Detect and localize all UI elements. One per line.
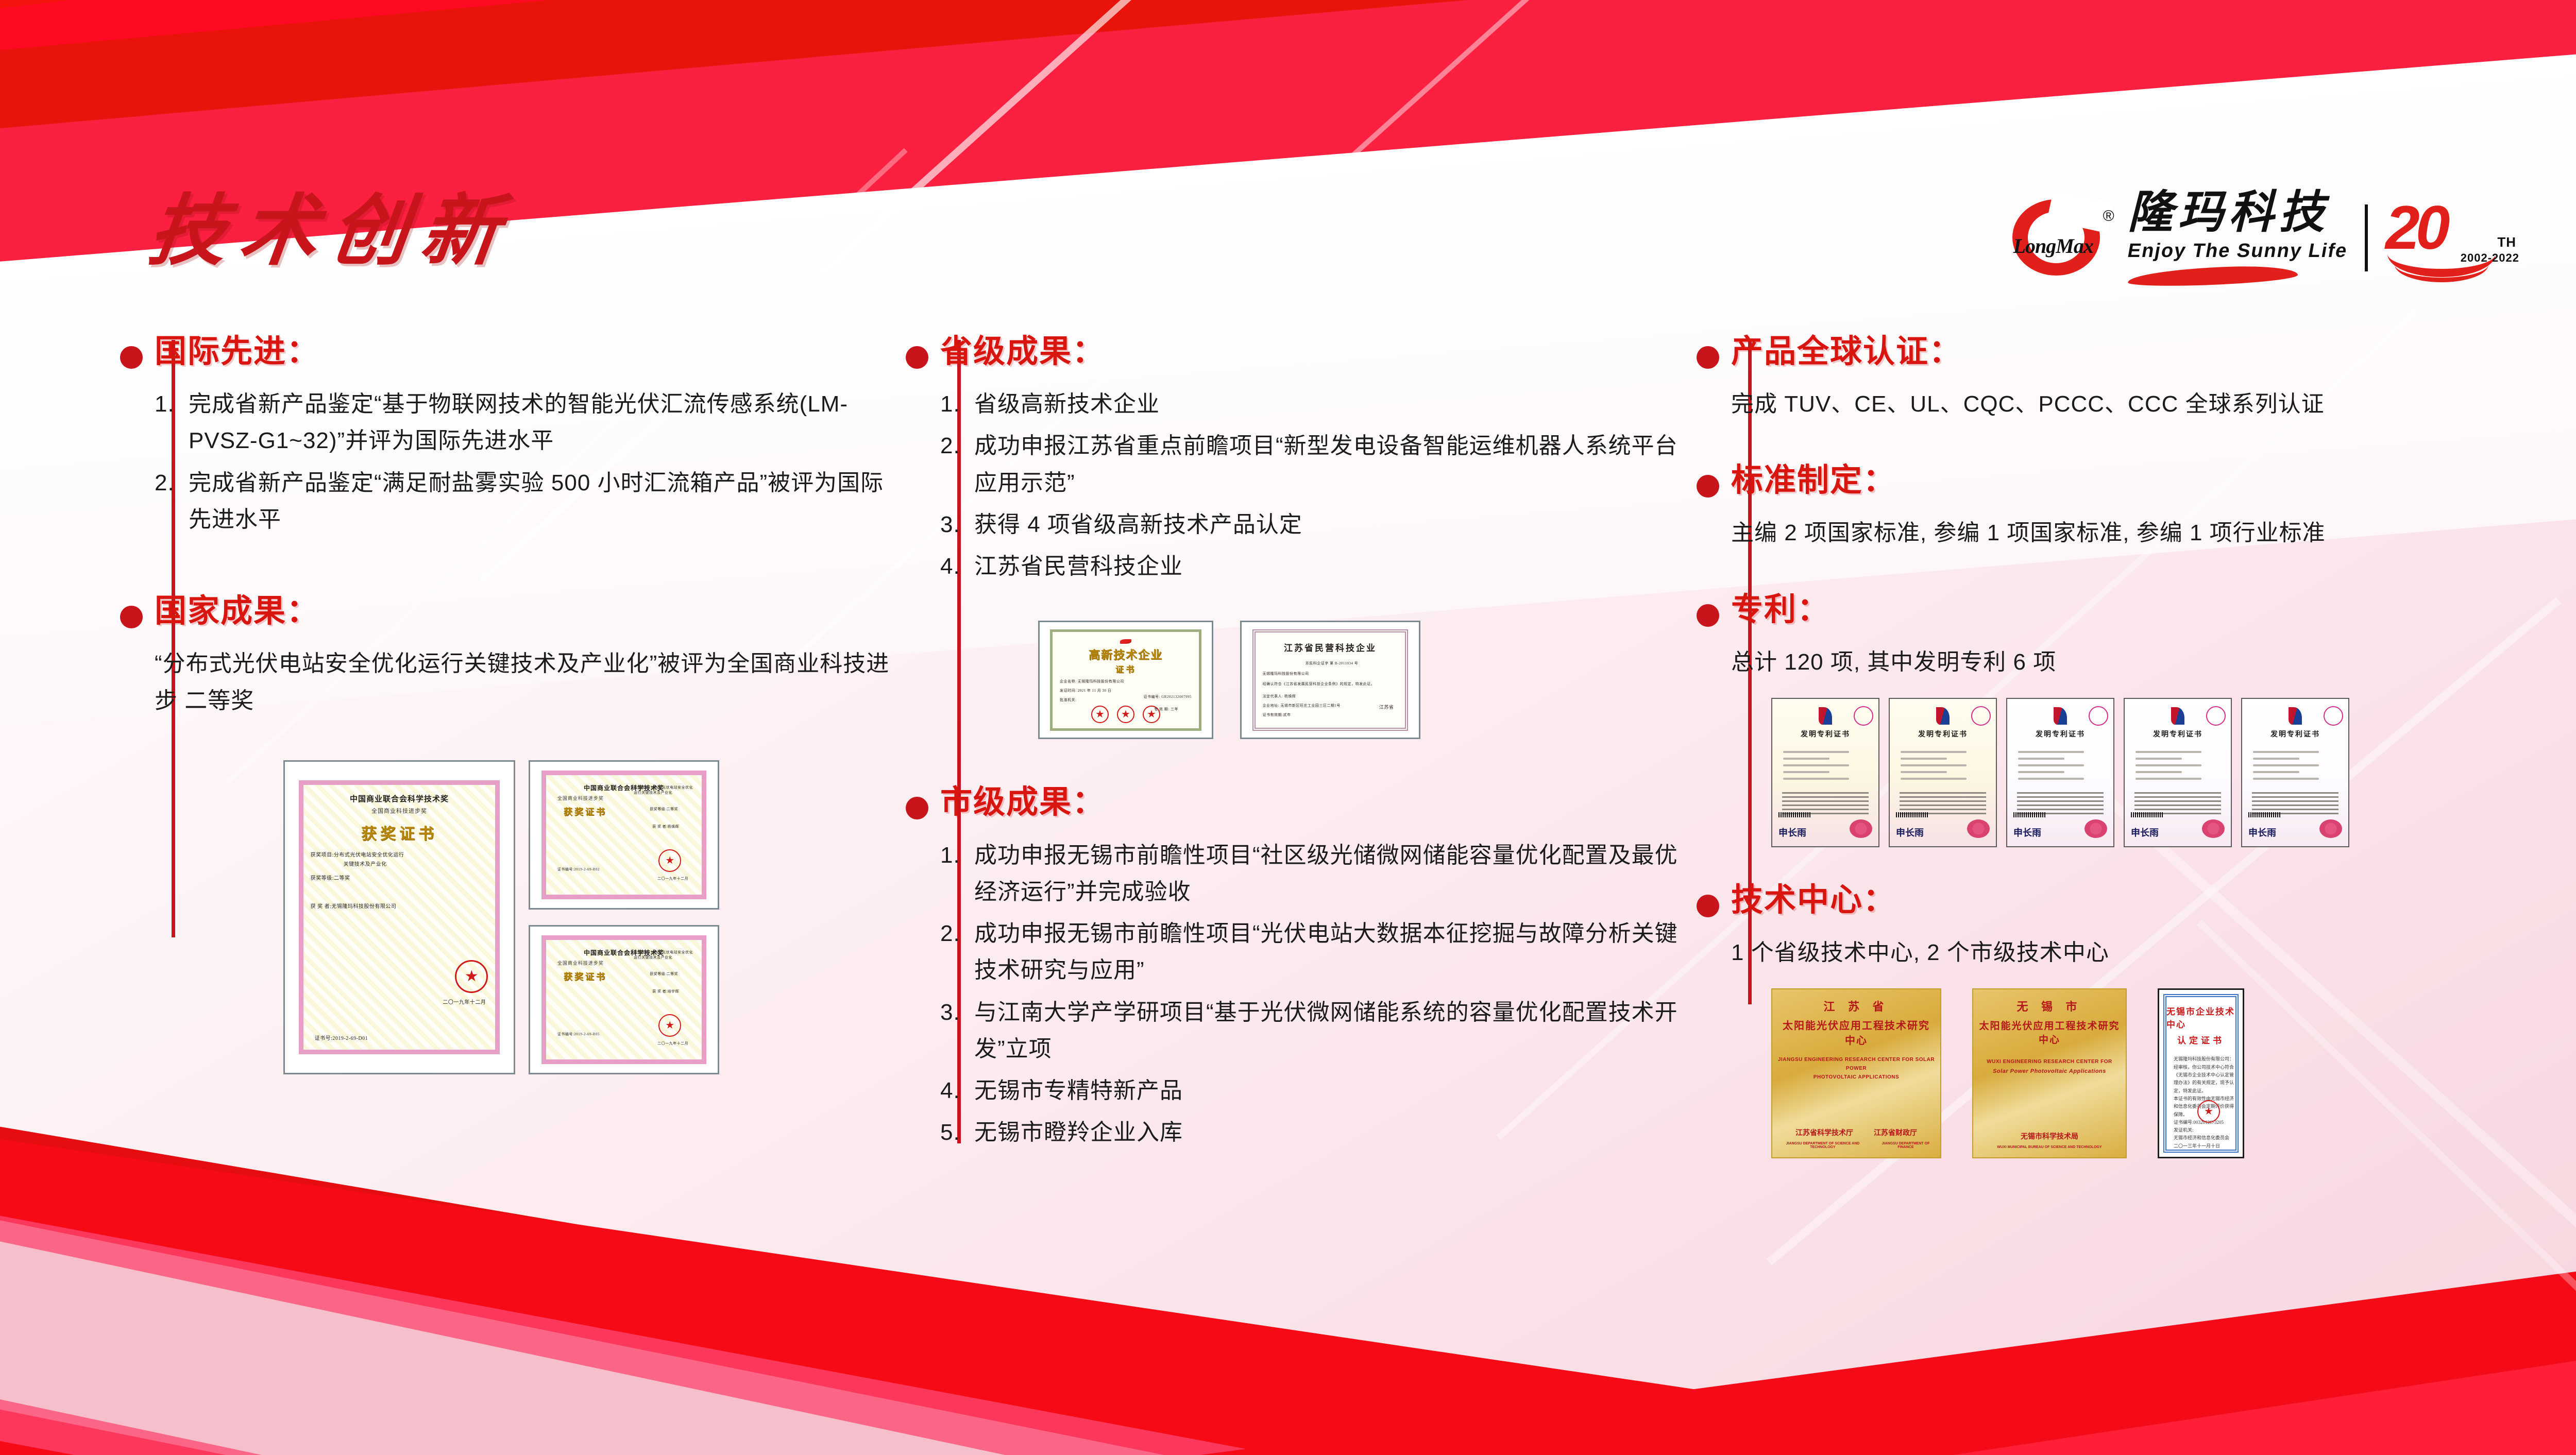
patent-seal-icon: [1854, 706, 1873, 726]
bullet-dot-icon: [120, 606, 143, 628]
patent-title: 发明专利证书: [1918, 729, 1968, 739]
certificate-subheading: 全国商业科技进步奖: [557, 960, 604, 966]
certificate-subheading: 全国商业科技进步奖: [371, 807, 427, 815]
brand-name-cn: 隆玛科技: [2128, 191, 2347, 236]
plaque-line-2: 太阳能光伏应用工程技术研究中心: [1978, 1018, 2121, 1046]
certificate-inner-frame: 无锡市企业技术中心 认定证书 无锡隆玛科技股份有限公司： 经审核，你公司技术中心…: [2163, 994, 2239, 1153]
section-provincial-achievements: 省级成果： 省级高新技术企业 成功申报江苏省重点前瞻项目“新型发电设备智能运维机…: [940, 335, 1687, 585]
patent-seal-icon: [2324, 706, 2343, 726]
patent-title: 发明专利证书: [2036, 729, 2085, 739]
patent-certificate-row: 发明专利证书 申⻓雨 发明专利证书 申⻓雨: [1771, 698, 2504, 847]
patent-signature-icon: 申⻓雨: [1778, 826, 1806, 839]
bullet-dot-icon: [906, 346, 928, 369]
list-item: 成功申报无锡市前瞻性项目“光伏电站大数据本征挖掘与故障分析关键技术研究与应用”: [940, 915, 1687, 989]
patent-signature-icon: 申⻓雨: [2248, 826, 2276, 839]
certificate-field: 二〇一九年十二月: [657, 876, 688, 881]
section-global-product-certification: 产品全球认证： 完成 TUV、CE、UL、CQC、PCCC、CCC 全球系列认证: [1731, 335, 2504, 422]
certificate-jiangsu-private-tech: 江苏省民营科技企业 苏民科企证字 第 B-2011034 号 无锡隆玛科技股份有…: [1240, 621, 1420, 739]
patent-seal-icon: [2089, 706, 2108, 726]
certificate-field: 获 奖 者:杨焕辉: [652, 824, 679, 829]
plaque-foot-left-en: JIANGSU DEPARTMENT OF SCIENCE AND TECHNO…: [1777, 1142, 1868, 1149]
certificate-title-1: 无锡市企业技术中心: [2166, 1004, 2235, 1030]
certificate-subheading: 全国商业科技进步奖: [557, 795, 604, 801]
bullet-dot-icon: [1697, 604, 1719, 627]
anniversary-th-label: TH: [2497, 234, 2516, 250]
section-list: 成功申报无锡市前瞻性项目“社区级光储微网储能容量优化配置及最优经济运行”并完成验…: [940, 837, 1687, 1151]
certificate-field: 证书号:2019-2-69-D01: [315, 1034, 368, 1041]
certificate-field: 江苏省: [1379, 704, 1394, 710]
certificate-title-2: 证书: [1115, 662, 1136, 675]
list-item: 成功申报无锡市前瞻性项目“社区级光储微网储能容量优化配置及最优经济运行”并完成验…: [940, 837, 1687, 911]
brand-tagline: Enjoy The Sunny Life: [2126, 240, 2349, 262]
column-left: 国际先进： 完成省新产品鉴定“基于物联网技术的智能光伏汇流传感系统(LM-PVS…: [155, 335, 896, 1074]
certificate-group-provincial: 高新技术企业 证书 企业名称: 无锡隆玛科技股份有限公司 证书编号: GR202…: [1038, 621, 1687, 739]
patent-barcode-icon: [1896, 812, 1929, 817]
list-item: 获得 4 项省级高新技术产品认定: [940, 506, 1687, 543]
list-item: 江苏省民营科技企业: [940, 548, 1687, 585]
plaque-line-1: 江 苏 省: [1823, 998, 1889, 1014]
plaque-foot-left: 无锡市科学技术局: [2021, 1131, 2078, 1141]
certificate-seal-icon: [1091, 706, 1109, 723]
plaque-line-3-en: WUXI ENGINEERING RESEARCH CENTER FOR: [1987, 1057, 2112, 1067]
list-item: 无锡市专精特新产品: [940, 1072, 1687, 1109]
certificate-field: 有 效 期: 三年: [1154, 707, 1178, 712]
section-list: 省级高新技术企业 成功申报江苏省重点前瞻项目“新型发电设备智能运维机器人系统平台…: [940, 386, 1687, 585]
certificate-title: 获奖证书: [564, 804, 607, 817]
patent-bottom-seal-icon: [1850, 819, 1872, 838]
certificate-field: 获奖项目:分布式光伏电站安全优化运行关键技术及产业化: [634, 785, 696, 795]
registered-trademark-icon: ®: [2103, 208, 2114, 225]
patent-field-lines: [1901, 746, 1986, 784]
patent-title: 发明专利证书: [2270, 729, 2320, 739]
certificate-stack-right: 中国商业联合会科学技术奖 全国商业科技进步奖 获奖证书 获奖项目:分布式光伏电站…: [529, 760, 719, 1074]
certificate-field: 获奖项目:分布式光伏电站安全优化运行关键技术及产业化: [634, 950, 696, 960]
certificate-field: 苏民科企证字 第 B-2011034 号: [1306, 661, 1359, 666]
patent-signature-icon: 申⻓雨: [1896, 826, 1924, 839]
list-item: 成功申报江苏省重点前瞻项目“新型发电设备智能运维机器人系统平台应用示范”: [940, 427, 1687, 501]
certificate-inner-frame: 中国商业联合会科学技术奖 全国商业科技进步奖 获奖证书 获奖项目:分布式光伏电站…: [541, 935, 706, 1064]
section-paragraph: 1 个省级技术中心, 2 个市级技术中心: [1731, 934, 2504, 971]
certificate-field: 企业名称: 无锡隆玛科技股份有限公司: [1060, 679, 1124, 684]
patent-emblem-icon: [1936, 707, 1950, 725]
certificate-national-award-main: 中国商业联合会科学技术奖 全国商业科技进步奖 获奖证书 获奖项目:分布式光伏电站…: [283, 760, 515, 1074]
brand-logo-lockup: LongMax ® 隆玛科技 Enjoy The Sunny Life 20 T…: [2012, 191, 2514, 285]
section-paragraph: 总计 120 项, 其中发明专利 6 项: [1731, 644, 2504, 680]
page-title: 技术创新: [145, 193, 517, 270]
plaque-line-4-en: Solar Power Photovoltaic Applications: [1993, 1067, 2106, 1077]
plaque-line-4-en: PHOTOVOLTAIC APPLICATIONS: [1814, 1073, 1899, 1082]
section-international-advanced: 国际先进： 完成省新产品鉴定“基于物联网技术的智能光伏汇流传感系统(LM-PVS…: [155, 335, 896, 538]
certificate-national-award-r02: 中国商业联合会科学技术奖 全国商业科技进步奖 获奖证书 获奖项目:分布式光伏电站…: [529, 760, 719, 910]
certificate-field: 获奖项目:分布式光伏电站安全优化运行: [311, 850, 404, 858]
certificate-title: 获奖证书: [361, 821, 437, 844]
certificate-field: 法定代表人: 杨焕辉: [1263, 694, 1296, 699]
section-standards-formulation: 标准制定： 主编 2 项国家标准, 参编 1 项国家标准, 参编 1 项行业标准: [1731, 464, 2504, 551]
patent-signature-icon: 申⻓雨: [2131, 826, 2159, 839]
patent-emblem-icon: [2171, 707, 2184, 725]
patent-certificate-1: 发明专利证书 申⻓雨: [1771, 698, 1879, 847]
section-paragraph: 主编 2 项国家标准, 参编 1 项国家标准, 参编 1 项行业标准: [1731, 515, 2504, 551]
certificate-field: 证书有效期:贰年: [1263, 712, 1291, 717]
patent-barcode-icon: [2248, 812, 2281, 817]
certificate-field: 批准机关:: [1060, 697, 1076, 703]
patent-bottom-seal-icon: [2084, 819, 2107, 838]
section-list: 完成省新产品鉴定“基于物联网技术的智能光伏汇流传感系统(LM-PVSZ-G1~3…: [155, 386, 896, 538]
patent-bottom-seal-icon: [1967, 819, 1990, 838]
certificate-title-2: 认定证书: [2177, 1033, 2225, 1046]
patent-field-lines: [2018, 746, 2103, 784]
certificate-heading: 江苏省民营科技企业: [1284, 641, 1377, 654]
plaque-line-1: 无 锡 市: [2016, 998, 2082, 1014]
certificate-title: 获奖证书: [564, 969, 607, 982]
section-title: 市级成果：: [940, 785, 1687, 819]
patent-emblem-icon: [1819, 707, 1832, 725]
section-title: 专利：: [1731, 593, 2504, 626]
plaque-foot-left-en: WUXI MUNICIPAL BUREAU OF SCIENCE AND TEC…: [1997, 1145, 2102, 1149]
flame-emblem-icon: [1120, 639, 1131, 644]
plaque-footer-en: JIANGSU DEPARTMENT OF SCIENCE AND TECHNO…: [1777, 1142, 1935, 1149]
patent-emblem-icon: [2054, 707, 2067, 725]
patent-bottom-seal-icon: [2202, 819, 2225, 838]
slide-canvas: 技术创新 LongMax ® 隆玛科技 Enjoy The Sunny Life…: [0, 0, 2576, 1455]
plaque-line-3-en: JIANGSU ENGINEERING RESEARCH CENTER FOR …: [1777, 1055, 1935, 1073]
patent-field-lines: [2136, 746, 2221, 784]
patent-barcode-icon: [1778, 812, 1811, 817]
plaque-footer-cn: 江苏省科学技术厅 江苏省财政厅: [1795, 1127, 1917, 1138]
patent-seal-icon: [2206, 706, 2226, 726]
column-right: 产品全球认证： 完成 TUV、CE、UL、CQC、PCCC、CCC 全球系列认证…: [1731, 335, 2504, 1194]
patent-certificate-5: 发明专利证书 申⻓雨: [2241, 698, 2349, 847]
certificate-field: 经确认符合《江苏省发展民营科技企业条例》的规定，特发此证。: [1263, 681, 1375, 687]
section-technology-centers: 技术中心： 1 个省级技术中心, 2 个市级技术中心 江 苏 省 太阳能光伏应用…: [1731, 883, 2504, 1158]
section-paragraph: 完成 TUV、CE、UL、CQC、PCCC、CCC 全球系列认证: [1731, 386, 2504, 422]
bullet-dot-icon: [1697, 346, 1719, 369]
certificate-title: 高新技术企业: [1089, 646, 1163, 662]
patent-barcode-icon: [2013, 812, 2046, 817]
certificate-field: 证书编号: GR202132007995: [1144, 694, 1192, 699]
certificate-seal-icon: [455, 960, 488, 993]
patent-certificate-2: 发明专利证书 申⻓雨: [1889, 698, 1997, 847]
patent-bottom-seal-icon: [2319, 819, 2342, 838]
certificate-inner-frame: 中国商业联合会科学技术奖 全国商业科技进步奖 获奖证书 获奖项目:分布式光伏电站…: [541, 771, 706, 899]
certificate-inner-frame: 中国商业联合会科学技术奖 全国商业科技进步奖 获奖证书 获奖项目:分布式光伏电站…: [299, 780, 500, 1054]
anniversary-years-label: 2002-2022: [2461, 251, 2519, 265]
plaque-foot-right: 江苏省财政厅: [1874, 1127, 1917, 1138]
patent-emblem-icon: [2289, 707, 2302, 725]
certificate-field: 无锡隆玛科技股份有限公司: [1263, 671, 1309, 676]
certificate-field: 获奖等级:二等奖: [311, 874, 350, 881]
patent-title: 发明专利证书: [1801, 729, 1850, 739]
certificate-field: 二〇一九年十二月: [443, 998, 486, 1005]
plaque-foot-right-en: JIANGSU DEPARTMENT OF FINANCE: [1876, 1142, 1935, 1149]
certificate-inner-frame: 江苏省民营科技企业 苏民科企证字 第 B-2011034 号 无锡隆玛科技股份有…: [1252, 629, 1409, 731]
longmax-mark-icon: LongMax ®: [2012, 199, 2110, 277]
certificate-field: 获奖等级:二等奖: [650, 971, 678, 977]
certificate-field: 获奖等级:二等奖: [650, 807, 678, 812]
patent-certificate-4: 发明专利证书 申⻓雨: [2124, 698, 2232, 847]
section-title: 国际先进：: [155, 335, 896, 368]
plaque-foot-left: 江苏省科学技术厅: [1795, 1127, 1853, 1138]
patent-seal-icon: [1971, 706, 1991, 726]
certificate-field: 获 奖 者:无锡隆玛科技股份有限公司: [311, 902, 397, 910]
certificate-national-award-r05: 中国商业联合会科学技术奖 全国商业科技进步奖 获奖证书 获奖项目:分布式光伏电站…: [529, 925, 719, 1074]
patent-barcode-icon: [2131, 812, 2164, 817]
certificate-field: 证书编号:2019-2-69-R02: [557, 867, 600, 872]
column-middle: 省级成果： 省级高新技术企业 成功申报江苏省重点前瞻项目“新型发电设备智能运维机…: [940, 335, 1687, 1187]
certificate-high-tech-enterprise: 高新技术企业 证书 企业名称: 无锡隆玛科技股份有限公司 证书编号: GR202…: [1038, 621, 1213, 739]
anniversary-badge: 20 TH 2002-2022: [2385, 197, 2514, 279]
brand-name-block: 隆玛科技 Enjoy The Sunny Life: [2128, 191, 2347, 285]
section-patents: 专利： 总计 120 项, 其中发明专利 6 项 发明专利证书 申⻓雨 发明专利…: [1731, 593, 2504, 847]
list-item: 完成省新产品鉴定“基于物联网技术的智能光伏汇流传感系统(LM-PVSZ-G1~3…: [155, 386, 896, 459]
certificate-seal-icon: [658, 1014, 681, 1037]
section-title: 国家成果：: [155, 594, 896, 628]
list-item: 无锡市瞪羚企业入库: [940, 1114, 1687, 1151]
logo-divider: [2365, 204, 2368, 271]
technology-center-plaque-row: 江 苏 省 太阳能光伏应用工程技术研究中心 JIANGSU ENGINEERIN…: [1771, 988, 2504, 1158]
certificate-field: 发证时间: 2021 年 11 月 30 日: [1060, 688, 1111, 693]
brush-stroke-icon: [2127, 264, 2298, 287]
bullet-dot-icon: [1697, 895, 1719, 917]
certificate-field: 证书编号:2019-2-69-R05: [557, 1032, 600, 1037]
list-item: 完成省新产品鉴定“满足耐盐雾实验 500 小时汇流箱产品”被评为国际先进水平: [155, 465, 896, 538]
section-title: 省级成果：: [940, 335, 1687, 368]
list-item: 省级高新技术企业: [940, 386, 1687, 422]
section-title: 产品全球认证：: [1731, 335, 2504, 368]
patent-field-lines: [2253, 746, 2338, 784]
certificate-field: 二〇一九年十二月: [657, 1041, 688, 1046]
section-title: 标准制定：: [1731, 464, 2504, 497]
section-municipal-achievements: 市级成果： 成功申报无锡市前瞻性项目“社区级光储微网储能容量优化配置及最优经济运…: [940, 785, 1687, 1151]
certificate-wuxi-enterprise-tech-center: 无锡市企业技术中心 认定证书 无锡隆玛科技股份有限公司： 经审核，你公司技术中心…: [2158, 988, 2244, 1158]
section-paragraph: “分布式光伏电站安全优化运行关键技术及产业化”被评为全国商业科技进步 二等奖: [155, 645, 896, 719]
certificate-field: 企业地址: 无锡市新区旺庄工业园三区二期1号: [1263, 703, 1341, 708]
plaque-wuxi-research-center: 无 锡 市 太阳能光伏应用工程技术研究中心 WUXI ENGINEERING R…: [1972, 988, 2127, 1158]
section-title: 技术中心：: [1731, 883, 2504, 917]
list-item: 与江南大学产学研项目“基于光伏微网储能系统的容量优化配置技术开发”立项: [940, 994, 1687, 1068]
certificate-inner-frame: 高新技术企业 证书 企业名称: 无锡隆玛科技股份有限公司 证书编号: GR202…: [1050, 629, 1201, 731]
certificate-field: 关键技术及产业化: [344, 860, 387, 867]
patent-signature-icon: 申⻓雨: [2013, 826, 2041, 839]
certificate-heading: 中国商业联合会科学技术奖: [350, 793, 449, 804]
logo-wordmark: LongMax: [2013, 234, 2093, 258]
patent-certificate-3: 发明专利证书 申⻓雨: [2006, 698, 2114, 847]
patent-field-lines: [1783, 746, 1868, 784]
plaque-jiangsu-research-center: 江 苏 省 太阳能光伏应用工程技术研究中心 JIANGSU ENGINEERIN…: [1771, 988, 1941, 1158]
certificate-seal-icon: [658, 849, 681, 872]
certificate-field: 获 奖 者:培宇辉: [652, 989, 679, 994]
section-national-achievements: 国家成果： “分布式光伏电站安全优化运行关键技术及产业化”被评为全国商业科技进步…: [155, 594, 896, 719]
plaque-line-2: 太阳能光伏应用工程技术研究中心: [1777, 1017, 1935, 1047]
patent-title: 发明专利证书: [2153, 729, 2202, 739]
certificate-seal-icon: [1117, 706, 1134, 723]
certificate-seal-row: [1091, 706, 1160, 723]
certificate-group-national: 中国商业联合会科学技术奖 全国商业科技进步奖 获奖证书 获奖项目:分布式光伏电站…: [283, 760, 896, 1074]
bullet-dot-icon: [120, 346, 143, 369]
